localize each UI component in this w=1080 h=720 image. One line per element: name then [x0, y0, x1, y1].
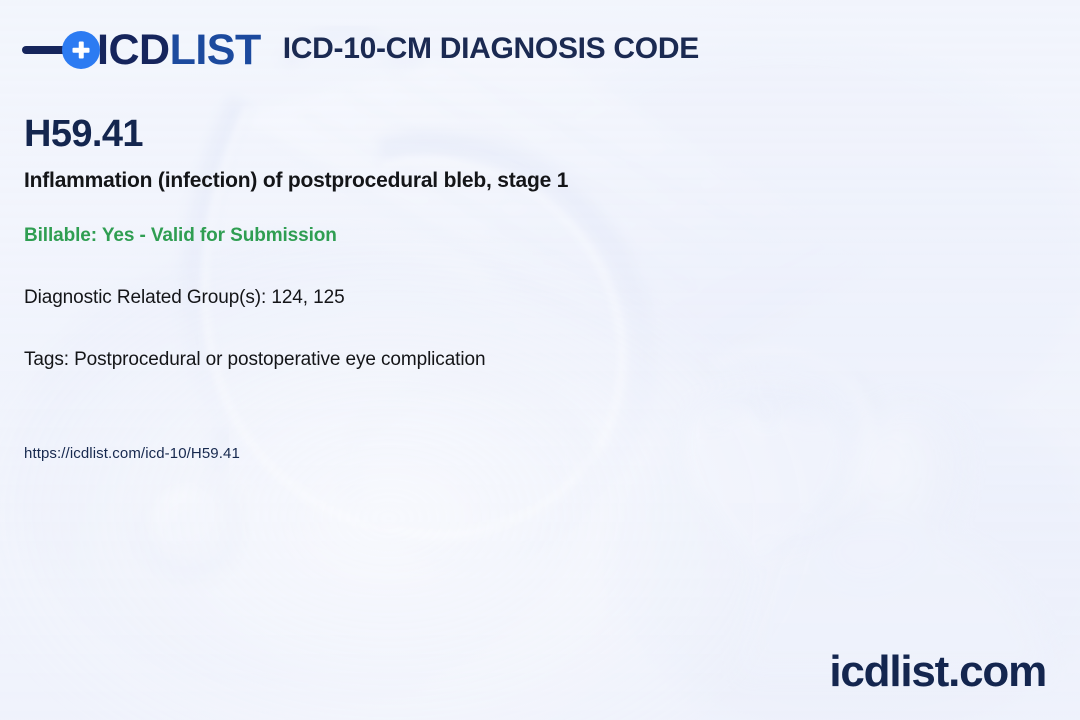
page-header: ICDLIST ICD-10-CM DIAGNOSIS CODE [22, 28, 699, 72]
diagnosis-code: H59.41 [24, 115, 143, 153]
plus-circle-icon [62, 31, 100, 69]
logo-word-list: LIST [170, 26, 261, 74]
logo-word-icd: ICD [97, 26, 170, 74]
diagnostic-related-groups: Diagnostic Related Group(s): 124, 125 [24, 287, 345, 310]
tags-line: Tags: Postprocedural or postoperative ey… [24, 349, 485, 372]
diagnosis-description: Inflammation (infection) of postprocedur… [24, 168, 568, 193]
poster-canvas: ICDLIST ICD-10-CM DIAGNOSIS CODE H59.41 … [0, 0, 1080, 720]
logo-wordmark: ICDLIST [97, 29, 261, 72]
content-layer: ICDLIST ICD-10-CM DIAGNOSIS CODE H59.41 … [0, 0, 1080, 720]
source-url[interactable]: https://icdlist.com/icd-10/H59.41 [24, 445, 240, 463]
billable-status: Billable: Yes - Valid for Submission [24, 225, 337, 248]
footer-brand: icdlist.com [829, 650, 1046, 694]
icdlist-logo[interactable]: ICDLIST [22, 28, 261, 72]
page-title: ICD-10-CM DIAGNOSIS CODE [283, 34, 699, 66]
